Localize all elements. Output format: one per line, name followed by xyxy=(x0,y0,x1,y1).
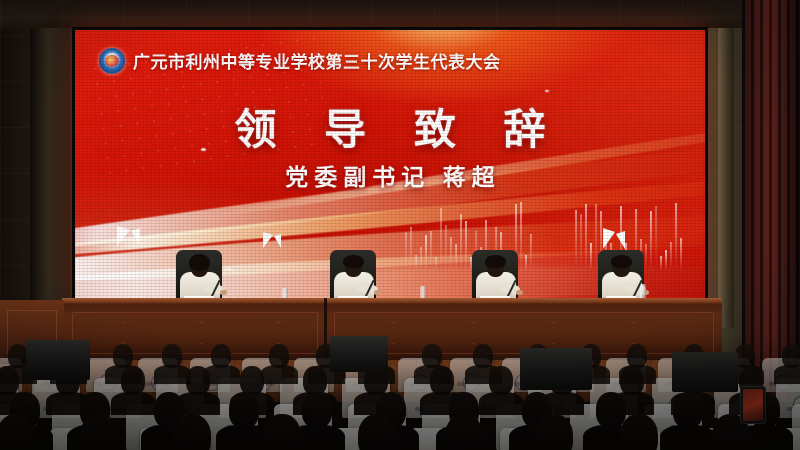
loudspeaker-cabinet xyxy=(520,348,592,390)
audience-shoulders xyxy=(111,392,155,415)
audience-head xyxy=(303,366,327,395)
audience-shoulders xyxy=(261,365,298,384)
presidium-person xyxy=(166,244,246,304)
stage-curtain xyxy=(742,0,800,400)
audience-head xyxy=(358,414,396,450)
audience-head xyxy=(596,392,626,428)
screen-subtitle-text: 党委副书记 蒋超 xyxy=(75,158,705,192)
audience-head xyxy=(302,392,332,428)
hair xyxy=(189,254,210,271)
audience-head xyxy=(620,366,644,395)
screen-header-text: 广元市利州中等专业学校第三十次学生代表大会 xyxy=(133,48,501,73)
presidium-person xyxy=(320,244,400,304)
audience-head xyxy=(430,366,454,395)
audience-head xyxy=(489,366,513,395)
presidium-person xyxy=(462,244,542,304)
loudspeaker-cabinet xyxy=(330,336,388,372)
audience-head xyxy=(0,366,19,395)
hair xyxy=(485,255,506,268)
smartphone-recording[interactable] xyxy=(740,386,766,424)
audience-head xyxy=(173,414,211,450)
hair xyxy=(343,255,364,268)
audience-shoulders xyxy=(660,425,716,450)
audience-head xyxy=(80,414,118,450)
audience-head xyxy=(535,414,573,450)
audience-shoulders xyxy=(774,365,800,384)
audience-head xyxy=(673,392,703,428)
school-emblem-icon xyxy=(99,48,125,74)
hand xyxy=(374,290,381,295)
hand xyxy=(220,290,227,295)
loudspeaker-cabinet xyxy=(26,340,90,380)
audience-head xyxy=(445,414,483,450)
audience-head xyxy=(0,414,35,450)
hair xyxy=(611,255,632,268)
screen-title-text: 领 导 致 辞 xyxy=(75,96,705,157)
audience-head xyxy=(121,366,145,395)
audience-head xyxy=(263,414,301,450)
sparkle xyxy=(545,90,549,92)
audience-head xyxy=(186,366,210,395)
audience-head xyxy=(240,366,264,395)
wall-pillar-right xyxy=(718,28,734,328)
head-table xyxy=(62,298,722,360)
audience-head xyxy=(229,392,259,428)
hand xyxy=(516,290,523,295)
audience-head xyxy=(620,414,658,450)
audience-shoulders xyxy=(479,392,523,415)
auditorium-photo: 广元市利州中等专业学校第三十次学生代表大会 领 导 致 辞 党委副书记 蒋超 xyxy=(0,0,800,450)
presidium-person xyxy=(588,244,668,304)
loudspeaker-cabinet xyxy=(672,352,738,392)
wall-pillar-left xyxy=(30,28,70,328)
